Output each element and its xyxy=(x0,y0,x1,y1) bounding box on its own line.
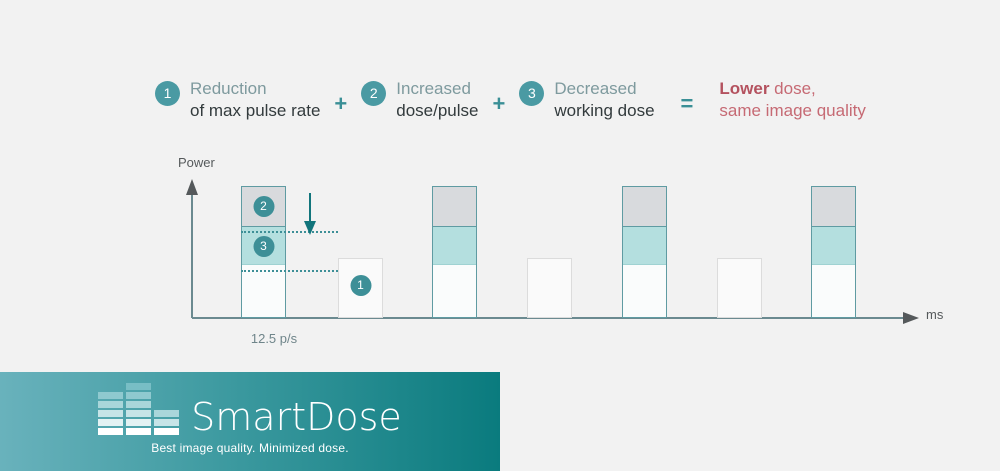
equalizer-segment xyxy=(126,392,151,399)
formula-term-1: 1 Reduction of max pulse rate xyxy=(155,78,320,122)
pulse-bar-3 xyxy=(432,186,477,318)
pulse-rate-annotation: 12.5 p/s xyxy=(0,331,1000,346)
pulse-bar-3-segment-working-dose xyxy=(433,226,476,265)
formula-term-1-line1: Reduction xyxy=(190,78,320,100)
equalizer-bars-icon xyxy=(98,389,179,435)
formula-result-line2: same image quality xyxy=(719,100,865,122)
formula-term-1-text: Reduction of max pulse rate xyxy=(190,78,320,122)
inline-badge-2: 2 xyxy=(253,196,274,217)
formula-result-line1-rest: dose, xyxy=(769,79,815,98)
infographic-page: 1 Reduction of max pulse rate + 2 Increa… xyxy=(0,0,1000,471)
equalizer-segment xyxy=(126,419,151,426)
equalizer-segment xyxy=(98,419,123,426)
formula-term-2-line1: Increased xyxy=(396,78,478,100)
step-badge-2: 2 xyxy=(361,81,386,106)
pulse-rate-value: 12.5 p/s xyxy=(251,331,297,346)
product-tagline: Best image quality. Minimized dose. xyxy=(151,441,349,455)
equalizer-segment xyxy=(154,428,179,435)
formula-result-line1: Lower dose, xyxy=(719,78,865,100)
inline-badge-3: 3 xyxy=(253,236,274,257)
pulse-bar-2: 1 xyxy=(338,258,383,318)
formula-result: Lower dose, same image quality xyxy=(719,78,865,122)
pulse-bar-7 xyxy=(811,186,856,318)
formula-term-3-line2: working dose xyxy=(554,100,654,122)
equalizer-segment xyxy=(126,410,151,417)
smartdose-logo: SmartDose Best image quality. Minimized … xyxy=(0,372,500,471)
equalizer-segment xyxy=(126,428,151,435)
formula-term-3: 3 Decreased working dose xyxy=(519,78,654,122)
pulse-bar-7-segment-working-dose xyxy=(812,226,855,265)
equalizer-column-3 xyxy=(154,410,179,435)
equalizer-segment xyxy=(98,401,123,408)
equalizer-segment xyxy=(126,383,151,390)
operator-plus-1: + xyxy=(334,83,347,117)
pulse-bar-1-segment-increase: 2 xyxy=(242,187,285,226)
product-wordmark: SmartDose xyxy=(191,397,402,437)
equalizer-column-1 xyxy=(98,392,123,435)
equalizer-segment xyxy=(126,401,151,408)
formula-term-1-line2: of max pulse rate xyxy=(190,100,320,122)
formula-result-emphasis: Lower xyxy=(719,79,769,98)
formula-term-2-text: Increased dose/pulse xyxy=(396,78,478,122)
inline-badge-1: 1 xyxy=(350,275,371,296)
down-arrow-icon xyxy=(303,193,317,237)
pulse-bar-1: 2 3 xyxy=(241,186,286,318)
step-badge-1: 1 xyxy=(155,81,180,106)
equalizer-segment xyxy=(98,392,123,399)
pulse-power-chart: Power ms 2 3 1 xyxy=(0,155,1000,365)
logo-row: SmartDose xyxy=(98,389,402,437)
pulse-bar-4 xyxy=(527,258,572,318)
dotted-guide-upper xyxy=(241,231,338,233)
pulse-bar-5-segment-increase xyxy=(623,187,666,226)
pulse-bar-3-segment-increase xyxy=(433,187,476,226)
equalizer-segment xyxy=(98,428,123,435)
operator-equals: = xyxy=(681,83,694,117)
step-badge-3: 3 xyxy=(519,81,544,106)
equalizer-segment xyxy=(98,410,123,417)
formula-row: 1 Reduction of max pulse rate + 2 Increa… xyxy=(155,78,866,122)
formula-term-2: 2 Increased dose/pulse xyxy=(361,78,478,122)
formula-term-3-line1: Decreased xyxy=(554,78,654,100)
formula-term-2-line2: dose/pulse xyxy=(396,100,478,122)
equalizer-segment xyxy=(154,419,179,426)
pulse-bar-5 xyxy=(622,186,667,318)
operator-plus-2: + xyxy=(493,83,506,117)
pulse-bar-5-segment-working-dose xyxy=(623,226,666,265)
formula-term-3-text: Decreased working dose xyxy=(554,78,654,122)
smartdose-banner: SmartDose Best image quality. Minimized … xyxy=(0,372,500,471)
equalizer-segment xyxy=(154,410,179,417)
pulse-bar-6 xyxy=(717,258,762,318)
pulse-bar-7-segment-increase xyxy=(812,187,855,226)
equalizer-column-2 xyxy=(126,383,151,435)
dotted-guide-lower xyxy=(241,270,338,272)
